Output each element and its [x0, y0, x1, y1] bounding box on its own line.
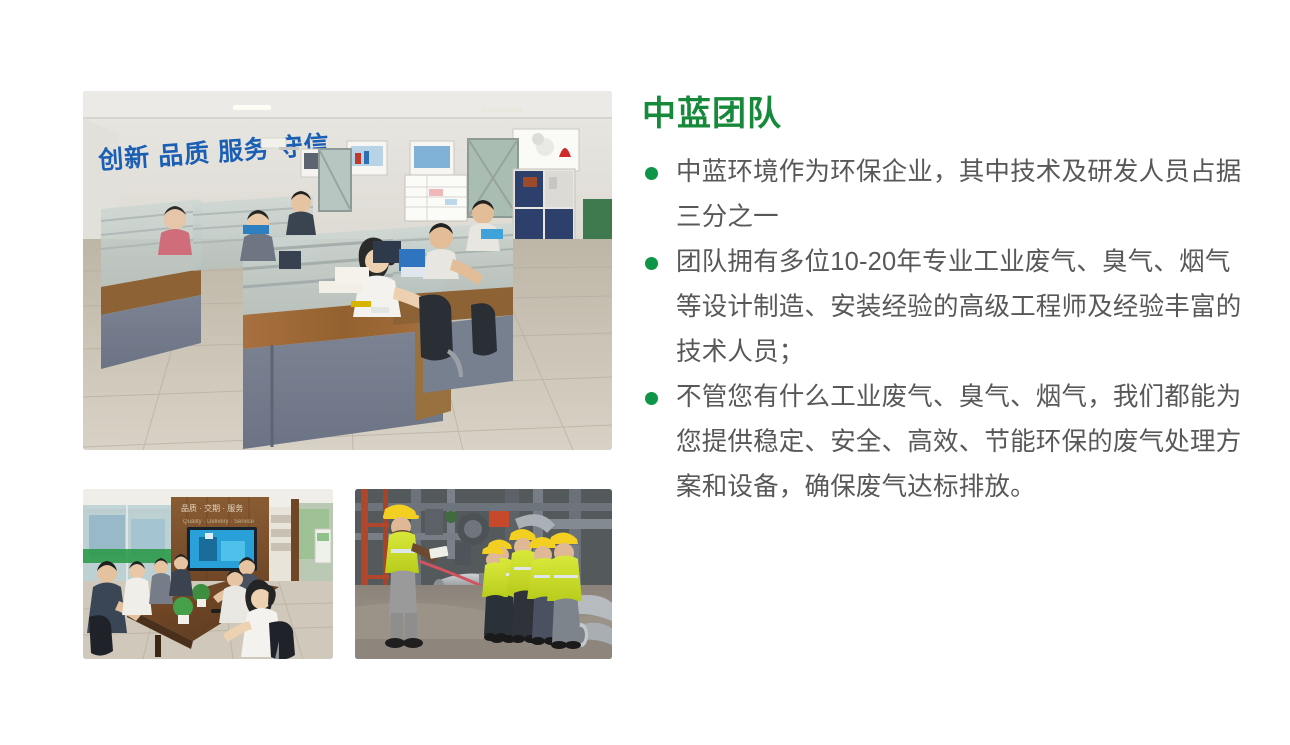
site-safety-briefing-illustration: [355, 489, 612, 659]
photo-gallery: 创新 品质 服务 守信: [83, 91, 613, 659]
slide-root: 创新 品质 服务 守信: [0, 0, 1290, 745]
bullet-text: 团队拥有多位10-20年专业工业废气、臭气、烟气等设计制造、安装经验的高级工程师…: [676, 248, 1241, 366]
photo-site-safety-briefing[interactable]: [355, 489, 612, 659]
bullet-dot-icon: [645, 392, 658, 405]
office-open-plan-illustration: 创新 品质 服务 守信: [83, 91, 612, 450]
bullet-text: 中蓝环境作为环保企业，其中技术及研发人员占据三分之一: [676, 158, 1241, 231]
list-item: 团队拥有多位10-20年专业工业废气、臭气、烟气等设计制造、安装经验的高级工程师…: [642, 240, 1252, 375]
list-item: 中蓝环境作为环保企业，其中技术及研发人员占据三分之一: [642, 150, 1252, 240]
text-content: 中蓝团队 中蓝环境作为环保企业，其中技术及研发人员占据三分之一 团队拥有多位10…: [642, 93, 1252, 510]
svg-text:Quality · Delivery · Service: Quality · Delivery · Service: [183, 519, 255, 525]
page-title: 中蓝团队: [642, 93, 1252, 136]
list-item: 不管您有什么工业废气、臭气、烟气，我们都能为您提供稳定、安全、高效、节能环保的废…: [642, 375, 1252, 510]
photo-meeting-room[interactable]: 品质 · 交期 · 服务 Quality · Delivery · Servic…: [83, 489, 333, 659]
bullet-dot-icon: [645, 257, 658, 270]
bullet-list: 中蓝环境作为环保企业，其中技术及研发人员占据三分之一 团队拥有多位10-20年专…: [642, 150, 1252, 510]
meeting-room-illustration: 品质 · 交期 · 服务 Quality · Delivery · Servic…: [83, 489, 333, 659]
bullet-text: 不管您有什么工业废气、臭气、烟气，我们都能为您提供稳定、安全、高效、节能环保的废…: [676, 383, 1241, 501]
bullet-dot-icon: [645, 167, 658, 180]
svg-text:品质 · 交期 · 服务: 品质 · 交期 · 服务: [181, 503, 243, 513]
photo-office-open-plan[interactable]: 创新 品质 服务 守信: [83, 91, 612, 450]
